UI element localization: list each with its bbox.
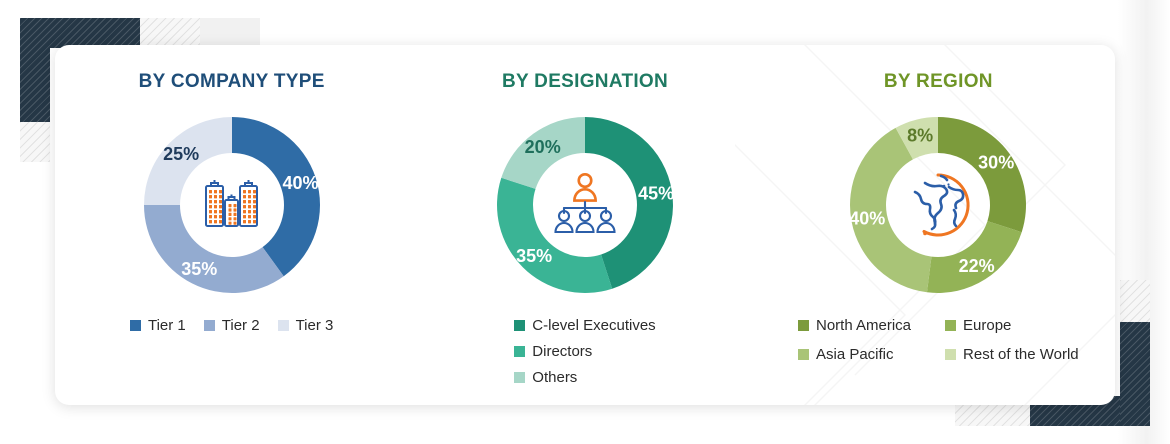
panel-title: BY DESIGNATION [502, 71, 668, 93]
by-company-type-center-icon [199, 172, 265, 238]
by-region-slice-label-2: 40% [850, 209, 886, 229]
legend-item[interactable]: Tier 2 [204, 317, 260, 334]
legend-label: Tier 2 [222, 317, 260, 334]
bottom-right-hatch-block-upper [1120, 280, 1150, 322]
by-region-center-icon [903, 170, 973, 240]
legend-swatch-icon [798, 320, 809, 331]
legend-swatch-icon [204, 320, 215, 331]
by-region-donut-wrap: 30%22%40%8% [840, 107, 1036, 303]
panel-by-company-type: BY COMPANY TYPE 40%35%25% [55, 45, 408, 405]
legend-label: Europe [963, 317, 1011, 334]
legend-item[interactable]: Tier 3 [278, 317, 334, 334]
office-buildings-icon [199, 172, 265, 238]
by-company-type-slice-label-1: 35% [181, 259, 217, 279]
legend-item[interactable]: C-level Executives [514, 317, 655, 334]
panel-title: BY REGION [884, 71, 993, 93]
legend-label: Tier 1 [148, 317, 186, 334]
bottom-right-navy-bar-vertical [1120, 322, 1150, 426]
legend-swatch-icon [514, 320, 525, 331]
legend-label: Tier 3 [296, 317, 334, 334]
by-region-slice-label-0: 30% [978, 153, 1014, 173]
legend-swatch-icon [798, 349, 809, 360]
by-designation-slice-label-0: 45% [638, 184, 674, 204]
panel-title: BY COMPANY TYPE [139, 71, 325, 93]
legend-swatch-icon [945, 320, 956, 331]
top-left-hatch-block-lower [20, 122, 50, 162]
legend-label: North America [816, 317, 911, 334]
legend-item[interactable]: Tier 1 [130, 317, 186, 334]
top-left-navy-bar-vertical [20, 18, 50, 122]
org-chart-people-icon [549, 172, 621, 238]
top-left-grey-block [200, 18, 260, 48]
by-designation-slice-label-1: 35% [516, 246, 552, 266]
legend-item[interactable]: Europe [945, 317, 1079, 334]
by-designation-legend: C-level Executives Directors Others [514, 317, 655, 386]
chart-card: BY COMPANY TYPE 40%35%25% [55, 45, 1115, 405]
globe-icon [903, 170, 973, 240]
legend-label: C-level Executives [532, 317, 655, 334]
legend-item[interactable]: Asia Pacific [798, 346, 911, 363]
by-region-legend: North America Europe Asia Pacific Rest o… [798, 317, 1079, 363]
legend-label: Others [532, 369, 577, 386]
legend-swatch-icon [278, 320, 289, 331]
by-designation-center-icon [549, 172, 621, 238]
by-company-type-legend: Tier 1 Tier 2 Tier 3 [130, 317, 333, 334]
by-region-slice-label-3: 8% [907, 125, 933, 145]
by-designation-donut-wrap: 45%35%20% [487, 107, 683, 303]
legend-label: Directors [532, 343, 592, 360]
legend-swatch-icon [945, 349, 956, 360]
legend-swatch-icon [514, 372, 525, 383]
legend-item[interactable]: Rest of the World [945, 346, 1079, 363]
by-company-type-slice-label-0: 40% [282, 173, 318, 193]
by-company-type-slice-label-2: 25% [163, 144, 199, 164]
legend-label: Rest of the World [963, 346, 1079, 363]
legend-swatch-icon [130, 320, 141, 331]
panels-container: BY COMPANY TYPE 40%35%25% [55, 45, 1115, 405]
top-left-hatch-block [140, 18, 200, 48]
legend-item[interactable]: North America [798, 317, 911, 334]
panel-by-designation: BY DESIGNATION 45%35%20% [408, 45, 761, 405]
legend-item[interactable]: Directors [514, 343, 592, 360]
by-designation-slice-label-2: 20% [525, 137, 561, 157]
panel-by-region: BY REGION 30%22%40%8% North America Euro… [762, 45, 1115, 405]
legend-item[interactable]: Others [514, 369, 577, 386]
by-region-slice-label-1: 22% [959, 256, 995, 276]
legend-label: Asia Pacific [816, 346, 894, 363]
by-company-type-donut-wrap: 40%35%25% [134, 107, 330, 303]
legend-swatch-icon [514, 346, 525, 357]
